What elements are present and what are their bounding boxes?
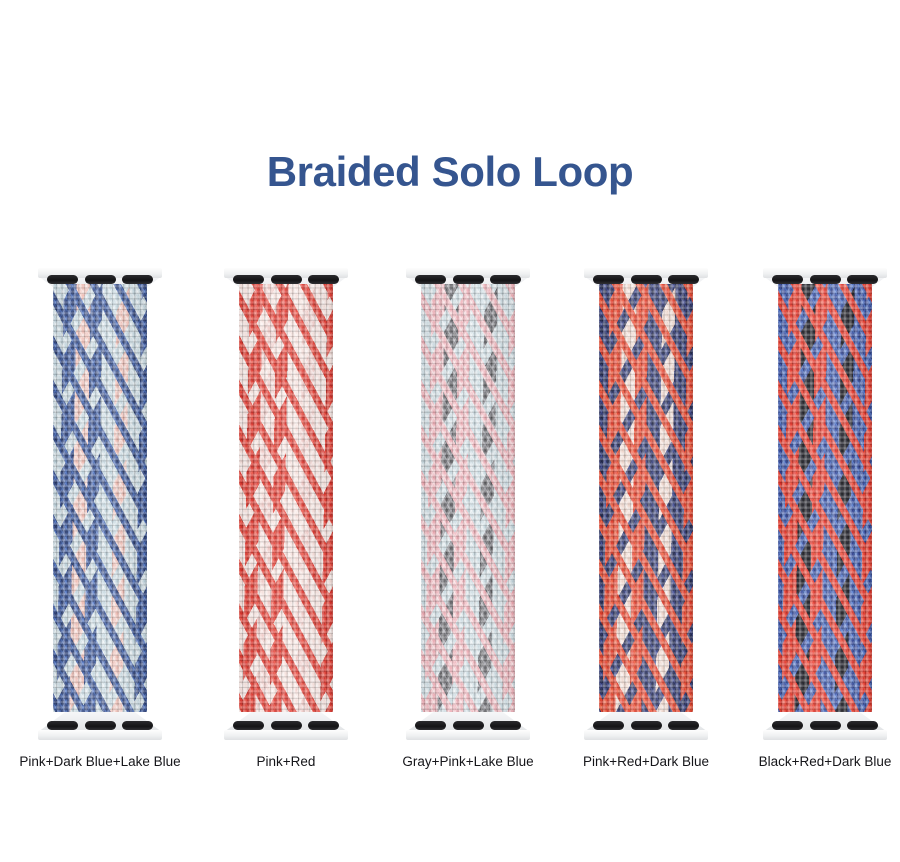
band-variants-row: Pink+Dark Blue+Lake BluePink+RedGray+Pin… <box>0 268 900 768</box>
lug-slot <box>85 721 116 730</box>
lug-slot <box>122 721 153 730</box>
lug-slot <box>233 721 264 730</box>
lug-slot <box>271 721 302 730</box>
lug-slot <box>453 721 484 730</box>
lug-slot <box>810 721 841 730</box>
lug-slot <box>85 275 116 284</box>
watch-lug-connector-bot-icon <box>584 712 708 740</box>
band-variant-2[interactable]: Pink+Red <box>196 268 376 768</box>
band-strap <box>53 284 147 712</box>
lug-slot <box>847 275 878 284</box>
band-variant-5[interactable]: Black+Red+Dark Blue <box>735 268 900 768</box>
band-label: Pink+Dark Blue+Lake Blue <box>10 754 190 769</box>
lug-slot <box>122 275 153 284</box>
band-strap <box>599 284 693 712</box>
lug-slot <box>490 275 521 284</box>
lug-slot <box>47 275 78 284</box>
lug-slot <box>415 721 446 730</box>
lug-slot <box>415 275 446 284</box>
lug-slot <box>668 275 699 284</box>
page-title: Braided Solo Loop <box>0 148 900 196</box>
lug-slot <box>233 275 264 284</box>
watch-lug-connector-bot-icon <box>763 712 887 740</box>
lug-slot <box>772 721 803 730</box>
lug-slot <box>271 275 302 284</box>
lug-slot <box>490 721 521 730</box>
lug-slot <box>668 721 699 730</box>
lug-slot <box>308 721 339 730</box>
lug-slot <box>847 721 878 730</box>
lug-slot <box>810 275 841 284</box>
watch-lug-connector-bot-icon <box>224 712 348 740</box>
band-strap <box>778 284 872 712</box>
band-variant-1[interactable]: Pink+Dark Blue+Lake Blue <box>10 268 190 768</box>
band-label: Black+Red+Dark Blue <box>735 754 900 769</box>
band-variant-3[interactable]: Gray+Pink+Lake Blue <box>378 268 558 768</box>
lug-slot <box>631 721 662 730</box>
band-label: Pink+Red+Dark Blue <box>556 754 736 769</box>
lug-slot <box>593 721 624 730</box>
lug-slot <box>772 275 803 284</box>
band-variant-4[interactable]: Pink+Red+Dark Blue <box>556 268 736 768</box>
lug-slot <box>631 275 662 284</box>
lug-slot <box>47 721 78 730</box>
lug-slot <box>453 275 484 284</box>
watch-lug-connector-bot-icon <box>406 712 530 740</box>
band-label: Pink+Red <box>196 754 376 769</box>
watch-lug-connector-bot-icon <box>38 712 162 740</box>
band-label: Gray+Pink+Lake Blue <box>378 754 558 769</box>
band-strap <box>239 284 333 712</box>
lug-slot <box>308 275 339 284</box>
band-strap <box>421 284 515 712</box>
lug-slot <box>593 275 624 284</box>
